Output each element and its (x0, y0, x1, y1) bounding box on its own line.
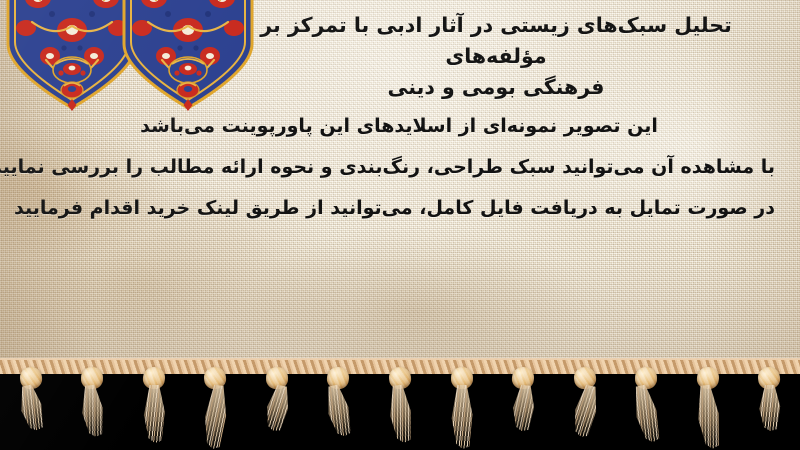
slide-title-line-1: تحلیل سبک‌های زیستی در آثار ادبی با تمرک… (216, 10, 776, 72)
tassel-strands (566, 383, 602, 439)
slide-title: تحلیل سبک‌های زیستی در آثار ادبی با تمرک… (216, 10, 776, 103)
tassel-knot (635, 367, 657, 389)
tassel-strands (13, 383, 48, 433)
fringe-rope-blend (0, 358, 800, 360)
tassel-fringe-border (0, 358, 800, 450)
tassel-strands (384, 384, 416, 444)
tassel-strands (259, 383, 294, 433)
tassel-strands (449, 385, 475, 449)
tassel-strands (508, 384, 539, 432)
presentation-slide: تحلیل سبک‌های زیستی در آثار ادبی با تمرک… (0, 0, 800, 450)
tassel-knot (266, 367, 288, 389)
tassel-strands (199, 384, 232, 450)
tassel-strands (627, 383, 664, 445)
slide-body: این تصویر نمونه‌ای از اسلایدهای این پاور… (23, 106, 775, 229)
body-line-1: این تصویر نمونه‌ای از اسلایدهای این پاور… (23, 106, 775, 147)
tassel-strands (77, 384, 108, 438)
slide-title-line-2: فرهنگی بومی و دینی (216, 72, 776, 103)
tassel-strands (691, 384, 724, 450)
tassel-strands (320, 383, 356, 439)
body-line-2: با مشاهده آن می‌توانید سبک طراحی، رنگ‌بن… (23, 147, 775, 188)
tassel-strands (756, 385, 782, 431)
tassel-strands (141, 385, 167, 443)
body-line-3: در صورت تمایل به دریافت فایل کامل، می‌تو… (23, 188, 775, 229)
